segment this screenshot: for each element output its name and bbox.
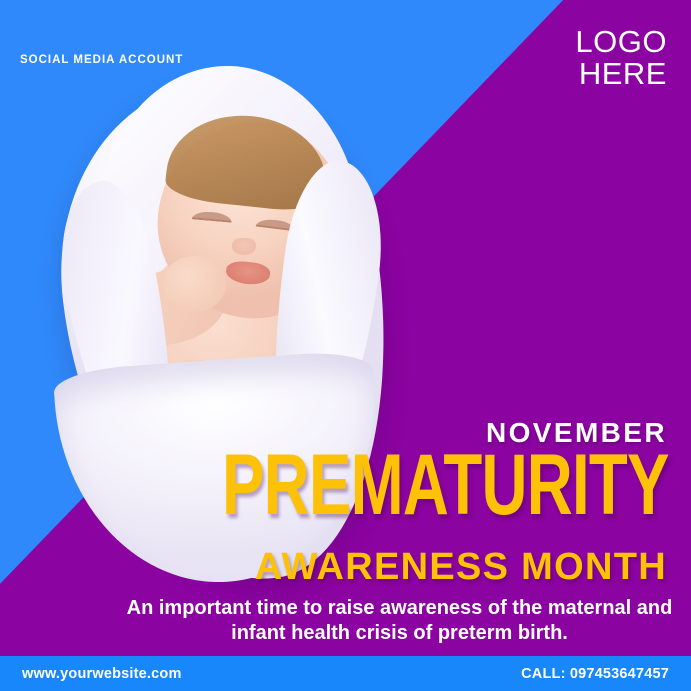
poster-canvas: SOCIAL MEDIA ACCOUNT LOGO HERE NOVEMBER … <box>0 0 691 691</box>
baby-nose-shape <box>232 238 256 255</box>
logo-line-1: LOGO <box>575 26 667 58</box>
description-text: An important time to raise awareness of … <box>0 596 679 646</box>
page-subtitle: AWARENESS MONTH <box>255 546 667 589</box>
call-phone-number[interactable]: CALL: 097453647457 <box>521 666 669 682</box>
logo-placeholder: LOGO HERE <box>575 26 667 90</box>
website-url[interactable]: www.yourwebsite.com <box>22 666 182 682</box>
logo-line-2: HERE <box>575 58 667 90</box>
footer-bar: www.yourwebsite.com CALL: 097453647457 <box>0 656 691 691</box>
social-media-account-label: SOCIAL MEDIA ACCOUNT <box>20 54 183 66</box>
page-title: PREMATURITY <box>222 446 669 525</box>
